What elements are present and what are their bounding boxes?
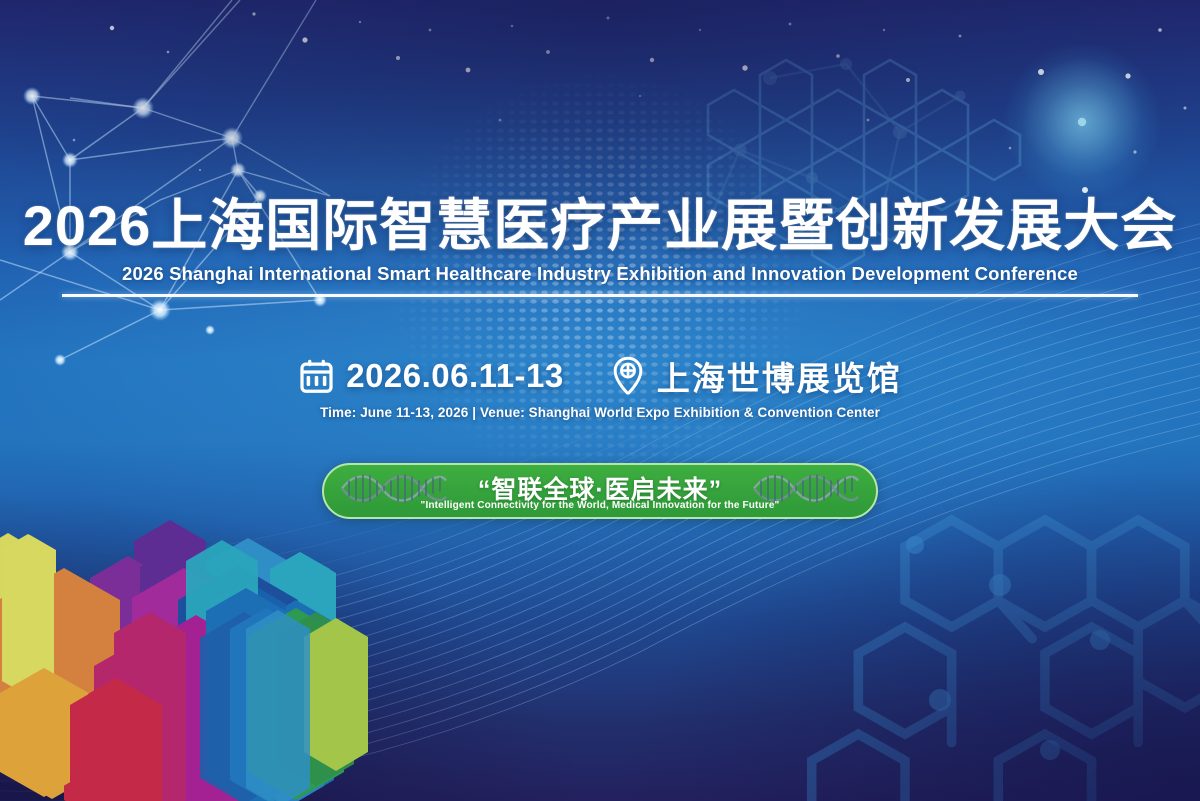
event-venue-text: 上海世博展览馆 [657,352,902,400]
slogan-text-english: "Intelligent Connectivity for the World,… [324,500,876,511]
event-date-text: 2026.06.11-13 [346,357,564,395]
slogan-banner: “智联全球·医启未来” "Intelligent Connectivity fo… [322,463,878,519]
title-divider [62,294,1138,297]
event-info-row: 2026.06.11-13 上海世博展览馆 [0,352,1200,400]
event-info-english: Time: June 11-13, 2026 | Venue: Shanghai… [0,405,1200,420]
event-date-item: 2026.06.11-13 [298,357,564,395]
calendar-icon [298,358,335,395]
poster-canvas: 2026上海国际智慧医疗产业展暨创新发展大会 2026 Shanghai Int… [0,0,1200,801]
event-info-block: 2026.06.11-13 上海世博展览馆 Time: June 11-13, … [0,352,1200,420]
title-block: 2026上海国际智慧医疗产业展暨创新发展大会 2026 Shanghai Int… [0,196,1200,297]
page-subtitle-english: 2026 Shanghai International Smart Health… [0,263,1200,285]
page-title: 2026上海国际智慧医疗产业展暨创新发展大会 [0,196,1200,256]
location-pin-medical-icon [610,356,646,396]
event-venue-item: 上海世博展览馆 [610,352,902,400]
